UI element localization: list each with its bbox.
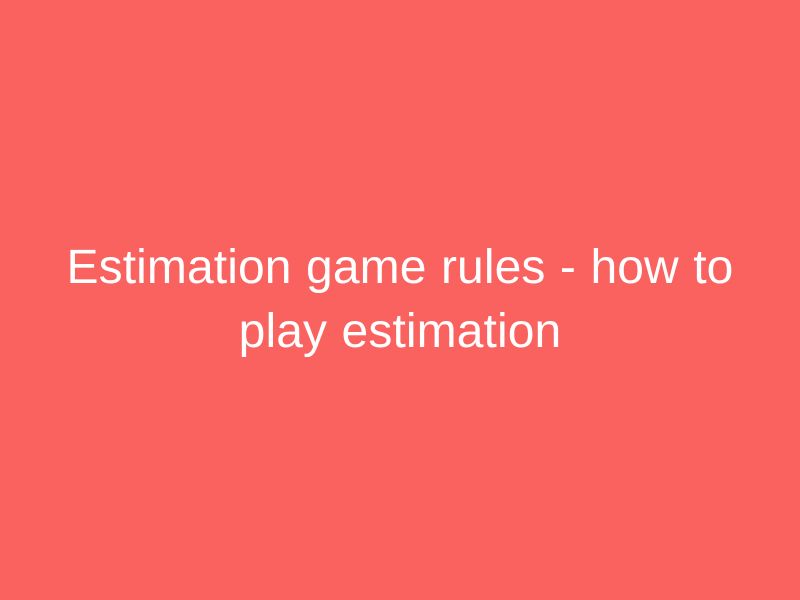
page-title: Estimation game rules - how to play esti… <box>60 236 740 364</box>
hero-banner: Estimation game rules - how to play esti… <box>0 0 800 600</box>
hero-content: Estimation game rules - how to play esti… <box>60 236 740 364</box>
